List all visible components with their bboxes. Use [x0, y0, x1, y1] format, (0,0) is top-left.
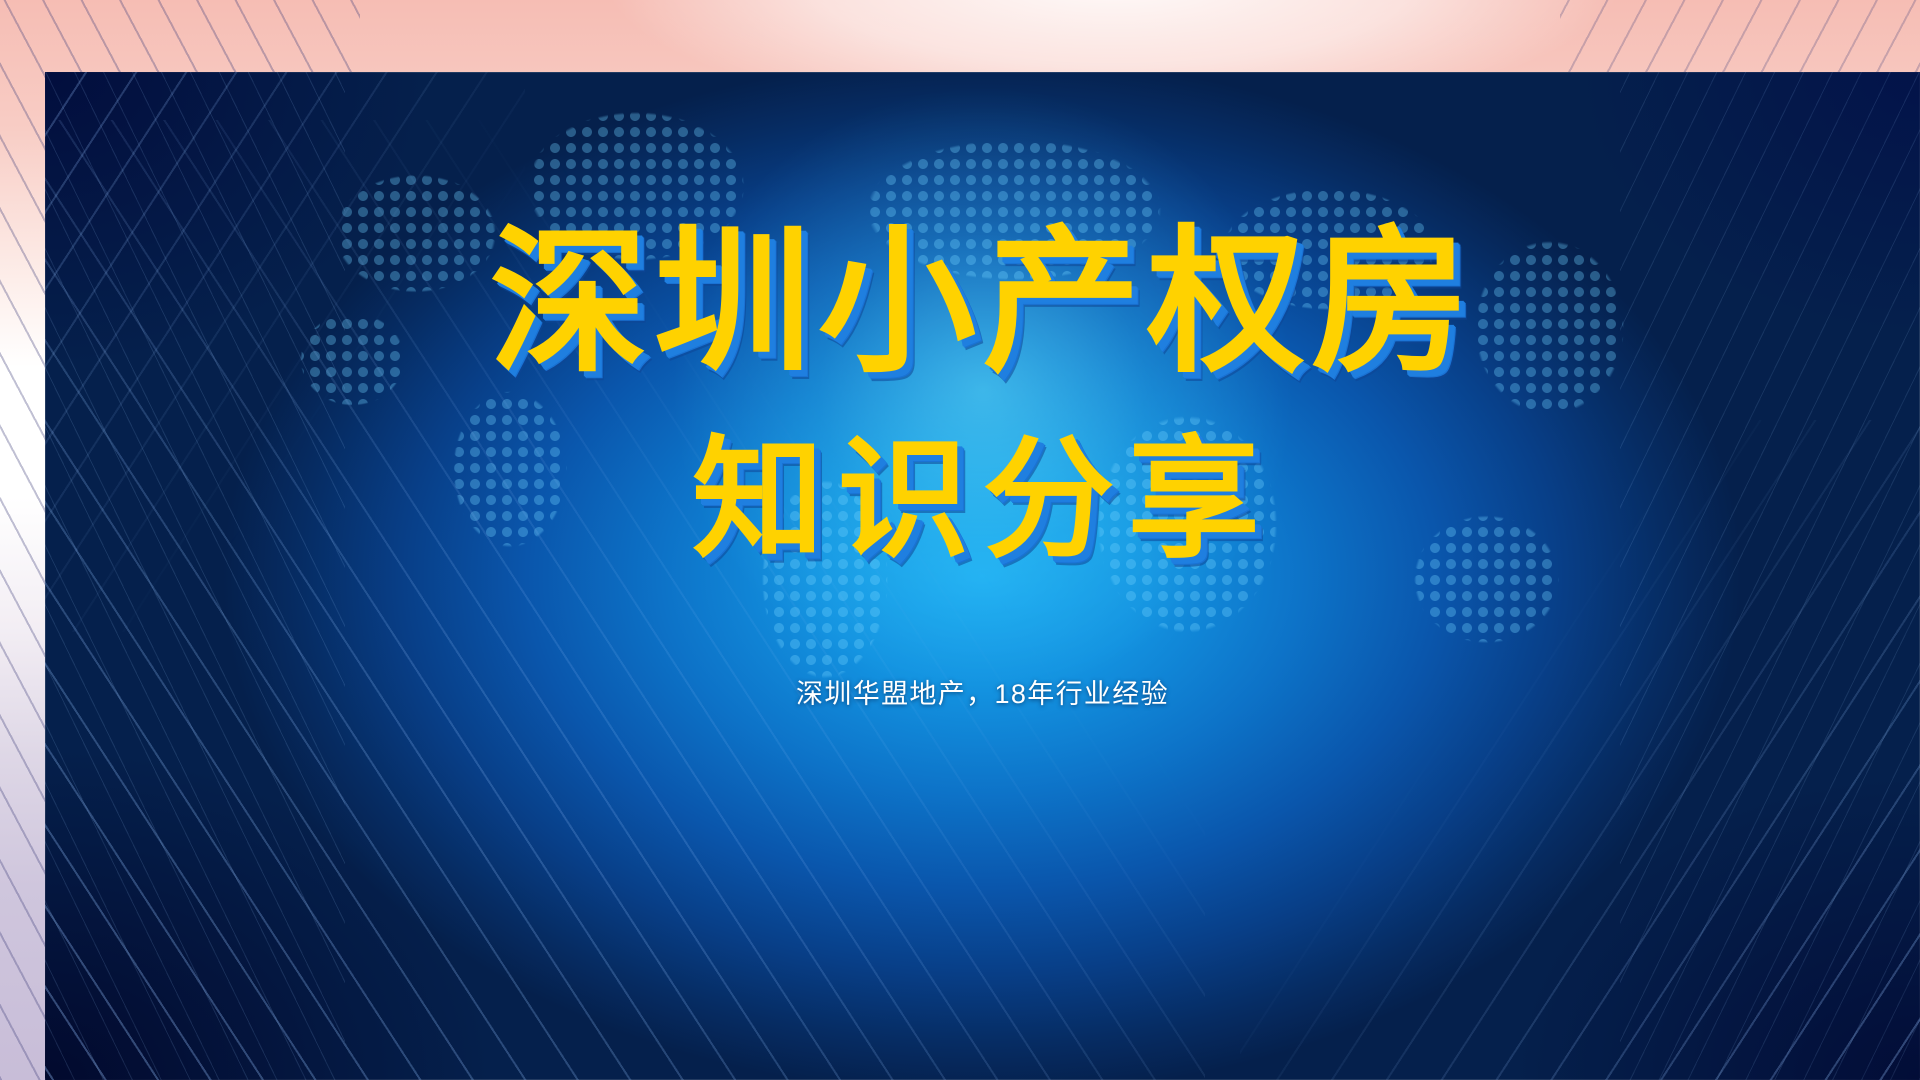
title-line-1: 深圳小产权房 — [490, 224, 1476, 382]
blue-panel: 深圳小产权房 知识分享 深圳华盟地产，18年行业经验 — [45, 72, 1920, 1080]
title-line-2: 知识分享 — [692, 434, 1273, 566]
slide-canvas: 深圳小产权房 知识分享 深圳华盟地产，18年行业经验 — [0, 0, 1920, 1080]
slide-content: 深圳小产权房 知识分享 深圳华盟地产，18年行业经验 — [45, 72, 1920, 1080]
subtitle: 深圳华盟地产，18年行业经验 — [796, 672, 1169, 711]
